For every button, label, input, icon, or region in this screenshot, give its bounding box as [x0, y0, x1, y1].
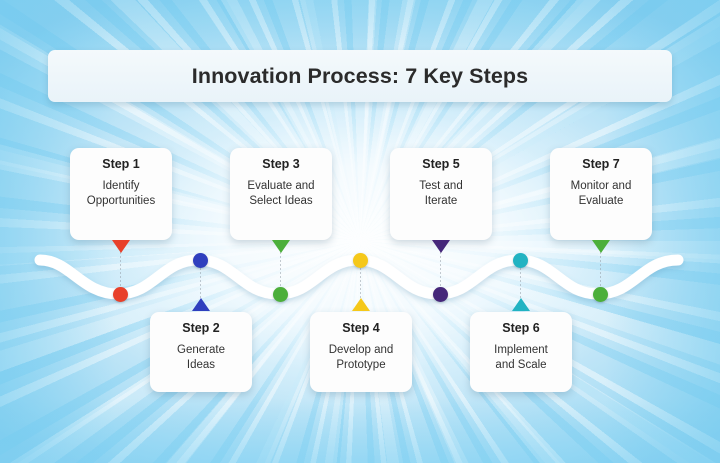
step-card-4[interactable]: Step 4 Develop and Prototype [310, 312, 412, 392]
step-card-6-desc-line1: Implement [476, 343, 566, 358]
step-card-1-desc-line1: Identify [76, 179, 166, 194]
pointer-triangle-step-5 [432, 240, 450, 253]
step-card-4-label: Step 4 [316, 321, 406, 336]
step-card-1-desc-line2: Opportunities [76, 194, 166, 209]
step-card-3[interactable]: Step 3 Evaluate and Select Ideas [230, 148, 332, 240]
step-card-3-desc-line1: Evaluate and [236, 179, 326, 194]
step-card-1[interactable]: Step 1 Identify Opportunities [70, 148, 172, 240]
step-card-7-label: Step 7 [556, 157, 646, 172]
step-card-7[interactable]: Step 7 Monitor and Evaluate [550, 148, 652, 240]
pointer-triangle-step-4 [352, 298, 370, 311]
pointer-triangle-step-6 [512, 298, 530, 311]
page-title: Innovation Process: 7 Key Steps [192, 64, 528, 89]
pointer-triangle-step-1 [112, 240, 130, 253]
pointer-triangle-step-2 [192, 298, 210, 311]
wave-dot-step-3[interactable] [273, 287, 288, 302]
step-card-4-desc-line2: Prototype [316, 358, 406, 373]
step-card-2-desc-line1: Generate [156, 343, 246, 358]
step-card-2-desc-line2: Ideas [156, 358, 246, 373]
pointer-triangle-step-3 [272, 240, 290, 253]
step-card-6-label: Step 6 [476, 321, 566, 336]
step-card-2[interactable]: Step 2 Generate Ideas [150, 312, 252, 392]
step-card-1-label: Step 1 [76, 157, 166, 172]
title-banner: Innovation Process: 7 Key Steps [48, 50, 672, 102]
step-card-7-desc-line1: Monitor and [556, 179, 646, 194]
wave-dot-step-2[interactable] [193, 253, 208, 268]
step-card-2-label: Step 2 [156, 321, 246, 336]
step-card-5-desc-line1: Test and [396, 179, 486, 194]
infographic-canvas: Innovation Process: 7 Key Steps Step 1 I… [0, 0, 720, 463]
step-card-5[interactable]: Step 5 Test and Iterate [390, 148, 492, 240]
step-card-3-desc-line2: Select Ideas [236, 194, 326, 209]
step-card-5-desc-line2: Iterate [396, 194, 486, 209]
step-card-7-desc-line2: Evaluate [556, 194, 646, 209]
pointer-triangle-step-7 [592, 240, 610, 253]
wave-dot-step-6[interactable] [513, 253, 528, 268]
wave-dot-step-4[interactable] [353, 253, 368, 268]
wave-dot-step-7[interactable] [593, 287, 608, 302]
wave-dot-step-5[interactable] [433, 287, 448, 302]
step-card-4-desc-line1: Develop and [316, 343, 406, 358]
wave-dot-step-1[interactable] [113, 287, 128, 302]
step-card-6[interactable]: Step 6 Implement and Scale [470, 312, 572, 392]
step-card-3-label: Step 3 [236, 157, 326, 172]
step-card-5-label: Step 5 [396, 157, 486, 172]
step-card-6-desc-line2: and Scale [476, 358, 566, 373]
